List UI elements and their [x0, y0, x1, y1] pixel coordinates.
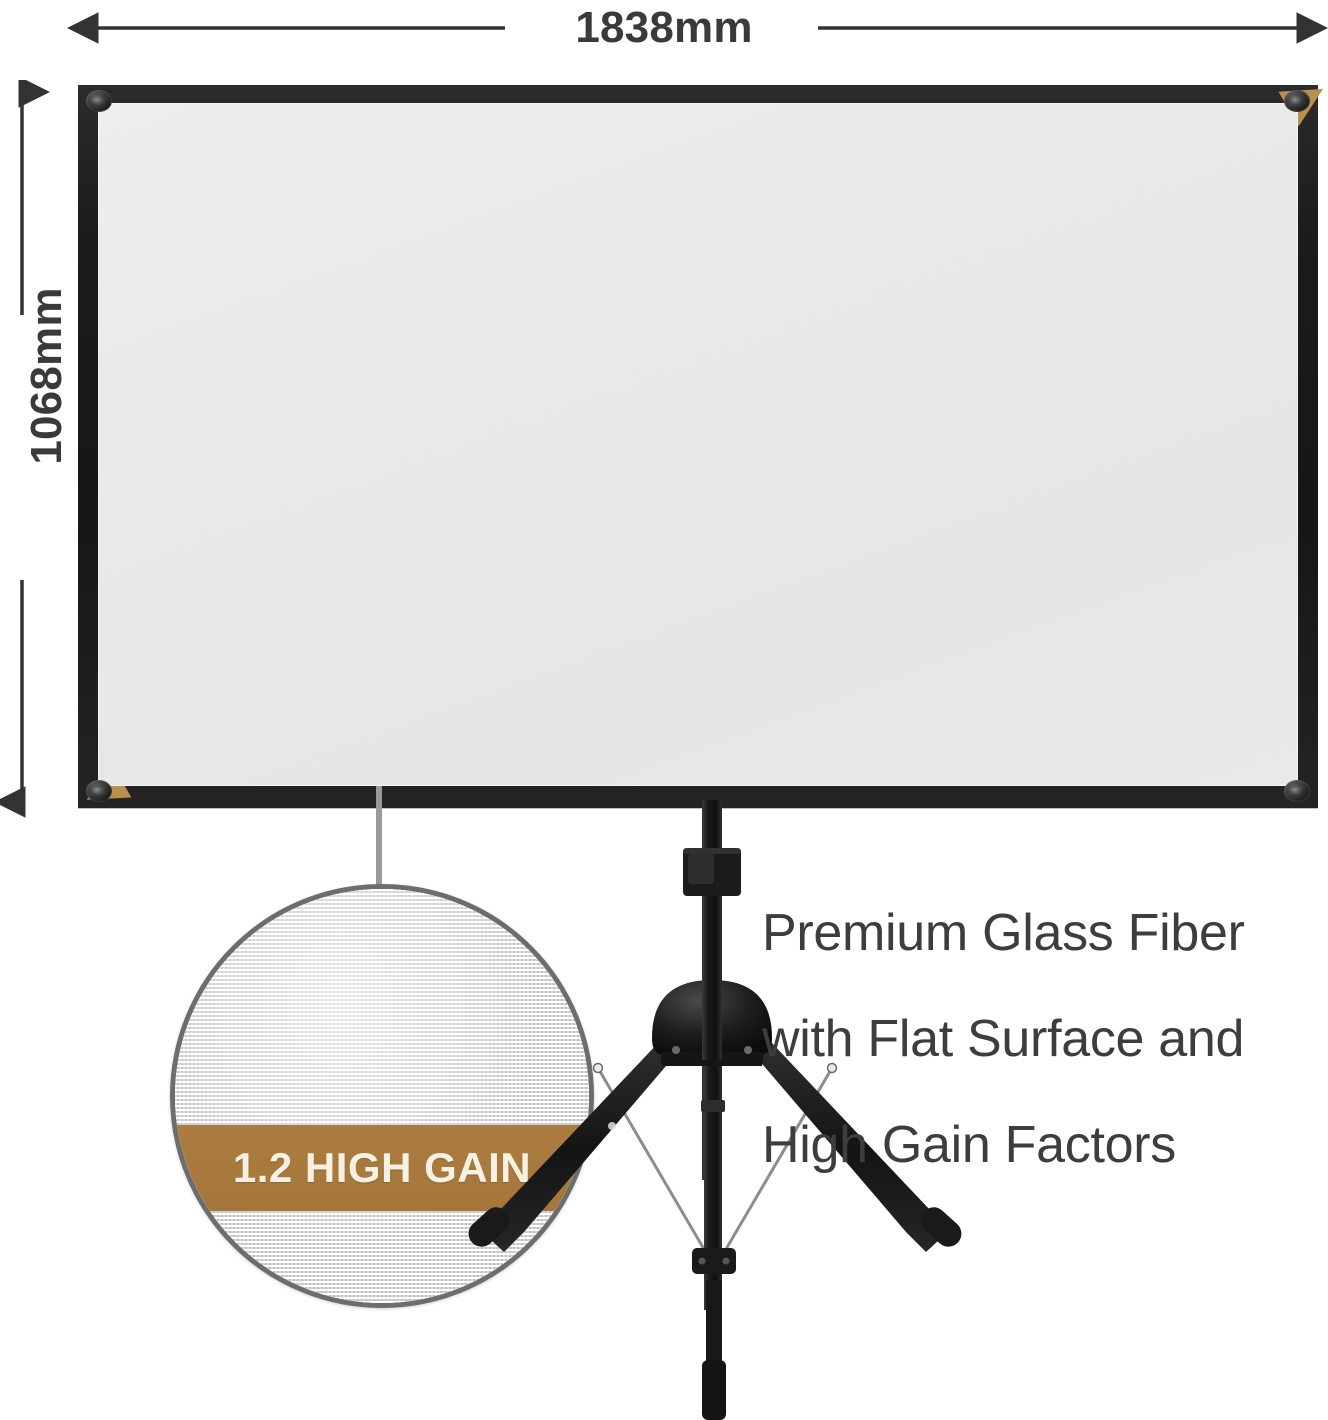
marketing-line-3: High Gain Factors [762, 1092, 1328, 1198]
corner-grommet-icon [1284, 780, 1310, 802]
marketing-text-block: Premium Glass Fiber with Flat Surface an… [762, 880, 1328, 1198]
tripod-height-clamp [683, 848, 741, 896]
projector-screen-frame [78, 85, 1318, 808]
product-diagram: 1838mm 1068mm [0, 0, 1328, 1420]
corner-grommet-icon [1284, 90, 1310, 112]
tripod-pole-joint [701, 1100, 725, 1112]
corner-grommet-icon [86, 90, 112, 112]
brace-pivot [594, 1064, 603, 1073]
tripod-brace-bracket [692, 1248, 736, 1274]
marketing-line-1: Premium Glass Fiber [762, 880, 1328, 986]
corner-grommet-icon [86, 780, 112, 802]
tripod-foot-center [702, 1360, 726, 1420]
tripod-leg-left [463, 1024, 690, 1252]
marketing-line-2: with Flat Surface and [762, 986, 1328, 1092]
projector-screen-surface [98, 103, 1298, 786]
callout-pin-line [376, 772, 382, 890]
